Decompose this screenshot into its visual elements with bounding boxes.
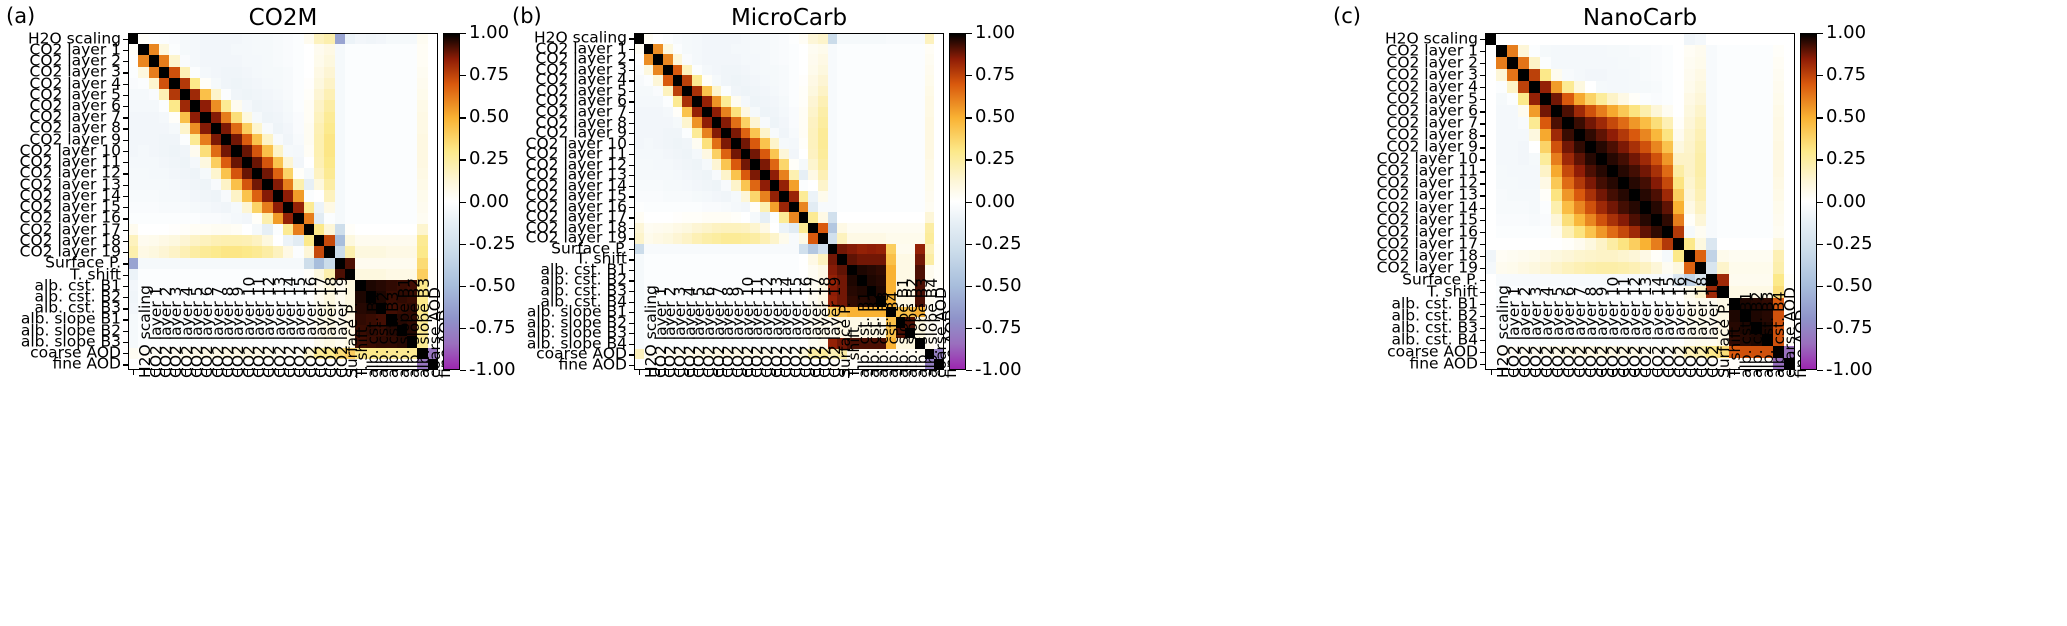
heatmap-cell bbox=[1762, 250, 1773, 262]
heatmap-cell bbox=[1762, 189, 1773, 201]
heatmap-cell bbox=[712, 65, 722, 76]
heatmap-cell bbox=[1562, 189, 1573, 201]
heatmap-cell bbox=[1784, 189, 1795, 201]
y-tick-mark bbox=[123, 263, 128, 264]
heatmap-cell bbox=[366, 235, 376, 246]
heatmap-cell bbox=[366, 67, 376, 78]
heatmap-cell bbox=[190, 100, 200, 111]
heatmap-cell bbox=[417, 202, 427, 213]
heatmap-cell bbox=[1529, 250, 1540, 262]
heatmap-cell bbox=[1706, 45, 1717, 57]
heatmap-cell bbox=[644, 159, 654, 170]
heatmap-cell bbox=[386, 202, 396, 213]
heatmap-cell bbox=[857, 149, 867, 160]
heatmap-cell bbox=[799, 223, 809, 234]
heatmap-cell bbox=[828, 117, 838, 128]
heatmap-cell bbox=[1740, 57, 1751, 69]
heatmap-cell bbox=[221, 202, 231, 213]
heatmap-cell bbox=[407, 89, 417, 100]
heatmap-cell bbox=[1607, 153, 1618, 165]
heatmap-cell bbox=[376, 179, 386, 190]
heatmap-cell bbox=[1695, 57, 1706, 69]
heatmap-cell bbox=[386, 78, 396, 89]
colorbar-tick-mark bbox=[966, 244, 972, 245]
heatmap-cell bbox=[1585, 57, 1596, 69]
heatmap-cell bbox=[138, 258, 148, 269]
heatmap-cell bbox=[1529, 69, 1540, 81]
x-tick-mark bbox=[433, 370, 434, 375]
heatmap-cell bbox=[1596, 201, 1607, 213]
heatmap-cell bbox=[262, 89, 272, 100]
heatmap-cell bbox=[211, 145, 221, 156]
heatmap-cell bbox=[376, 100, 386, 111]
heatmap-cell bbox=[1562, 129, 1573, 141]
heatmap-cell bbox=[808, 96, 818, 107]
heatmap-cell bbox=[634, 33, 644, 44]
heatmap-cell bbox=[169, 134, 179, 145]
heatmap-cell bbox=[1574, 105, 1585, 117]
heatmap-cell bbox=[653, 138, 663, 149]
heatmap-cell bbox=[876, 180, 886, 191]
heatmap-cell bbox=[211, 123, 221, 134]
heatmap-cell bbox=[682, 202, 692, 213]
heatmap-cell bbox=[837, 33, 847, 44]
heatmap-cell bbox=[702, 138, 712, 149]
heatmap-cell bbox=[397, 78, 407, 89]
heatmap-cell bbox=[886, 54, 896, 65]
x-tick-mark bbox=[216, 370, 217, 375]
heatmap-cell bbox=[1618, 129, 1629, 141]
heatmap-cell bbox=[1751, 33, 1762, 45]
heatmap-cell bbox=[1485, 117, 1496, 129]
heatmap-cell bbox=[1740, 177, 1751, 189]
heatmap-cell bbox=[242, 145, 252, 156]
heatmap-cell bbox=[1618, 189, 1629, 201]
heatmap-cell bbox=[653, 107, 663, 118]
heatmap-cell bbox=[324, 44, 334, 55]
heatmap-cell bbox=[1651, 238, 1662, 250]
heatmap-cell bbox=[1518, 201, 1529, 213]
heatmap-cell bbox=[200, 190, 210, 201]
heatmap-cell bbox=[169, 145, 179, 156]
heatmap-cell bbox=[818, 86, 828, 97]
heatmap-cell bbox=[304, 168, 314, 179]
heatmap-cell bbox=[304, 134, 314, 145]
heatmap-cell bbox=[692, 212, 702, 223]
heatmap-cell bbox=[731, 233, 741, 244]
heatmap-cell bbox=[634, 107, 644, 118]
heatmap-cell bbox=[283, 258, 293, 269]
heatmap-cell bbox=[837, 138, 847, 149]
heatmap-cell bbox=[293, 134, 303, 145]
heatmap-cell bbox=[857, 128, 867, 139]
heatmap-cell bbox=[770, 44, 780, 55]
heatmap-cell bbox=[1607, 214, 1618, 226]
heatmap-cell bbox=[1629, 141, 1640, 153]
heatmap-cell bbox=[741, 223, 751, 234]
heatmap-cell bbox=[1596, 189, 1607, 201]
y-tick-mark bbox=[1480, 268, 1485, 269]
heatmap-cell bbox=[417, 55, 427, 66]
heatmap-cell bbox=[1496, 262, 1507, 274]
heatmap-cell bbox=[1618, 262, 1629, 274]
heatmap-cell bbox=[750, 138, 760, 149]
heatmap-cell bbox=[1496, 201, 1507, 213]
heatmap-cell bbox=[128, 202, 138, 213]
heatmap-cell bbox=[644, 117, 654, 128]
y-tick-mark bbox=[1480, 75, 1485, 76]
heatmap-cell bbox=[169, 78, 179, 89]
heatmap-cell bbox=[663, 159, 673, 170]
heatmap-cell bbox=[1518, 81, 1529, 93]
heatmap-cell bbox=[721, 180, 731, 191]
panel-tag-c: (c) bbox=[1333, 6, 1361, 27]
heatmap-cell bbox=[634, 75, 644, 86]
heatmap-cell bbox=[741, 128, 751, 139]
heatmap-cell bbox=[712, 202, 722, 213]
heatmap-cell bbox=[1607, 226, 1618, 238]
heatmap-cell bbox=[1662, 214, 1673, 226]
x-tick-mark bbox=[765, 370, 766, 375]
heatmap-cell bbox=[417, 123, 427, 134]
y-tick-mark bbox=[123, 84, 128, 85]
heatmap-cell bbox=[867, 149, 877, 160]
heatmap-cell bbox=[653, 202, 663, 213]
heatmap-cell bbox=[1496, 57, 1507, 69]
heatmap-cell bbox=[789, 170, 799, 181]
heatmap-cell bbox=[750, 149, 760, 160]
heatmap-cell bbox=[242, 246, 252, 257]
heatmap-cell bbox=[1684, 214, 1695, 226]
heatmap-cell bbox=[905, 75, 915, 86]
heatmap-cell bbox=[1751, 129, 1762, 141]
heatmap-cell bbox=[760, 128, 770, 139]
heatmap-cell bbox=[915, 159, 925, 170]
heatmap-cell bbox=[808, 44, 818, 55]
heatmap-cell bbox=[159, 246, 169, 257]
heatmap-cell bbox=[867, 65, 877, 76]
heatmap-cell bbox=[1540, 105, 1551, 117]
x-tick-mark bbox=[852, 370, 853, 375]
heatmap-cell bbox=[1673, 226, 1684, 238]
heatmap-cell bbox=[355, 157, 365, 168]
heatmap-cell bbox=[1507, 214, 1518, 226]
heatmap-cell bbox=[355, 179, 365, 190]
heatmap-cell bbox=[200, 168, 210, 179]
heatmap-cell bbox=[760, 96, 770, 107]
x-tick-mark bbox=[1502, 370, 1503, 375]
heatmap-cell bbox=[283, 224, 293, 235]
x-tick-mark bbox=[1568, 370, 1569, 375]
heatmap-cell bbox=[760, 75, 770, 86]
heatmap-cell bbox=[1540, 165, 1551, 177]
heatmap-cell bbox=[1629, 214, 1640, 226]
heatmap-cell bbox=[905, 117, 915, 128]
colorbar-b bbox=[949, 33, 966, 370]
heatmap-cell bbox=[242, 235, 252, 246]
x-tick-mark bbox=[813, 370, 814, 375]
heatmap-cell bbox=[760, 54, 770, 65]
heatmap-cell bbox=[712, 159, 722, 170]
heatmap-cell bbox=[634, 265, 644, 276]
heatmap-cell bbox=[1607, 262, 1618, 274]
heatmap-cell bbox=[128, 157, 138, 168]
colorbar-tick-mark bbox=[966, 33, 972, 34]
heatmap-cell bbox=[1662, 57, 1673, 69]
heatmap-cell bbox=[808, 138, 818, 149]
heatmap-cell bbox=[925, 65, 935, 76]
colorbar-tick-label: 0.00 bbox=[469, 193, 509, 211]
heatmap-cell bbox=[653, 128, 663, 139]
heatmap-cell bbox=[138, 269, 148, 280]
x-tick-mark bbox=[144, 370, 145, 375]
heatmap-cell bbox=[1651, 165, 1662, 177]
heatmap-cell bbox=[1773, 262, 1784, 274]
heatmap-cell bbox=[1574, 33, 1585, 45]
heatmap-cell bbox=[634, 149, 644, 160]
heatmap-cell bbox=[837, 117, 847, 128]
heatmap-cell bbox=[1618, 238, 1629, 250]
heatmap-cell bbox=[1507, 250, 1518, 262]
heatmap-cell bbox=[355, 258, 365, 269]
heatmap-cell bbox=[1551, 141, 1562, 153]
heatmap-cell bbox=[1740, 165, 1751, 177]
heatmap-cell bbox=[1529, 214, 1540, 226]
heatmap-cell bbox=[314, 112, 324, 123]
x-tick-mark bbox=[1557, 370, 1558, 375]
heatmap-cell bbox=[741, 244, 751, 255]
heatmap-cell bbox=[200, 224, 210, 235]
heatmap-cell bbox=[1717, 201, 1728, 213]
y-tick-mark bbox=[123, 196, 128, 197]
heatmap-cell bbox=[925, 265, 935, 276]
heatmap-cell bbox=[644, 33, 654, 44]
heatmap-cell bbox=[915, 202, 925, 213]
heatmap-cell bbox=[847, 159, 857, 170]
heatmap-cell bbox=[200, 157, 210, 168]
heatmap-cell bbox=[818, 159, 828, 170]
heatmap-cell bbox=[663, 75, 673, 86]
heatmap-cell bbox=[867, 180, 877, 191]
heatmap-cell bbox=[673, 159, 683, 170]
heatmap-cell bbox=[799, 180, 809, 191]
heatmap-cell bbox=[376, 134, 386, 145]
heatmap-cell bbox=[702, 96, 712, 107]
y-tick-mark bbox=[629, 175, 634, 176]
heatmap-cell bbox=[663, 170, 673, 181]
heatmap-cell bbox=[915, 128, 925, 139]
heatmap-cell bbox=[221, 67, 231, 78]
heatmap-cell bbox=[1773, 214, 1784, 226]
heatmap-cell bbox=[779, 128, 789, 139]
heatmap-cell bbox=[335, 89, 345, 100]
heatmap-cell bbox=[1496, 226, 1507, 238]
heatmap-cell bbox=[1640, 117, 1651, 129]
heatmap-cell bbox=[304, 202, 314, 213]
heatmap-cell bbox=[702, 128, 712, 139]
colorbar-tick-label: 0.50 bbox=[1826, 108, 1866, 126]
heatmap-cell bbox=[386, 89, 396, 100]
x-tick-mark bbox=[833, 370, 834, 375]
heatmap-cell bbox=[789, 128, 799, 139]
heatmap-cell bbox=[731, 170, 741, 181]
heatmap-cell bbox=[818, 33, 828, 44]
heatmap-cell bbox=[721, 170, 731, 181]
heatmap-cell bbox=[876, 170, 886, 181]
heatmap-cell bbox=[886, 44, 896, 55]
heatmap-cell bbox=[407, 179, 417, 190]
heatmap-cell bbox=[1485, 69, 1496, 81]
heatmap-cell bbox=[857, 244, 867, 255]
heatmap-cell bbox=[750, 223, 760, 234]
heatmap-cell bbox=[386, 44, 396, 55]
heatmap-cell bbox=[283, 213, 293, 224]
heatmap-cell bbox=[828, 244, 838, 255]
heatmap-cell bbox=[653, 149, 663, 160]
heatmap-cell bbox=[345, 33, 355, 44]
heatmap-cell bbox=[190, 134, 200, 145]
heatmap-cell bbox=[159, 202, 169, 213]
heatmap-cell bbox=[293, 112, 303, 123]
heatmap-cell bbox=[1729, 93, 1740, 105]
heatmap-cell bbox=[138, 246, 148, 257]
heatmap-cell bbox=[169, 235, 179, 246]
heatmap-cell bbox=[634, 191, 644, 202]
y-tick-label: fine AOD bbox=[558, 357, 627, 373]
heatmap-cell bbox=[808, 159, 818, 170]
heatmap-cell bbox=[770, 54, 780, 65]
heatmap-cell bbox=[293, 224, 303, 235]
heatmap-cell bbox=[1629, 262, 1640, 274]
heatmap-cell bbox=[428, 134, 438, 145]
heatmap-cell bbox=[1762, 274, 1773, 286]
x-tick-mark bbox=[881, 370, 882, 375]
heatmap-cell bbox=[169, 202, 179, 213]
heatmap-cell bbox=[190, 89, 200, 100]
heatmap-cell bbox=[1496, 141, 1507, 153]
heatmap-cell bbox=[376, 145, 386, 156]
heatmap-cell bbox=[1695, 226, 1706, 238]
heatmap-cell bbox=[345, 168, 355, 179]
heatmap-cell bbox=[886, 223, 896, 234]
x-tick-mark bbox=[371, 370, 372, 375]
heatmap-cell bbox=[428, 179, 438, 190]
x-tick-mark bbox=[381, 370, 382, 375]
heatmap-cell bbox=[847, 180, 857, 191]
heatmap-cell bbox=[1640, 238, 1651, 250]
x-tick-mark bbox=[726, 370, 727, 375]
colorbar-tick-label: 1.00 bbox=[469, 24, 509, 42]
heatmap-cell bbox=[1729, 262, 1740, 274]
heatmap-cell bbox=[789, 33, 799, 44]
x-tick-mark bbox=[1723, 370, 1724, 375]
heatmap-cell bbox=[760, 159, 770, 170]
heatmap-cell bbox=[1684, 105, 1695, 117]
heatmap-cell bbox=[828, 65, 838, 76]
heatmap-cell bbox=[221, 89, 231, 100]
heatmap-cell bbox=[663, 212, 673, 223]
heatmap-cell bbox=[180, 179, 190, 190]
heatmap-cell bbox=[324, 89, 334, 100]
heatmap-cell bbox=[653, 265, 663, 276]
heatmap-cell bbox=[789, 212, 799, 223]
heatmap-cell bbox=[799, 96, 809, 107]
heatmap-cell bbox=[692, 191, 702, 202]
heatmap-cell bbox=[934, 54, 944, 65]
heatmap-cell bbox=[702, 75, 712, 86]
heatmap-cell bbox=[314, 145, 324, 156]
heatmap-cell bbox=[417, 246, 427, 257]
heatmap-cell bbox=[1651, 129, 1662, 141]
heatmap-cell bbox=[1740, 81, 1751, 93]
heatmap-cell bbox=[837, 265, 847, 276]
heatmap-cell bbox=[1717, 69, 1728, 81]
heatmap-cell bbox=[1551, 201, 1562, 213]
heatmap-cell bbox=[1640, 93, 1651, 105]
heatmap-cell bbox=[149, 134, 159, 145]
x-tick-mark bbox=[340, 370, 341, 375]
heatmap-cell bbox=[750, 159, 760, 170]
heatmap-cell bbox=[934, 138, 944, 149]
heatmap-cell bbox=[159, 33, 169, 44]
heatmap-cell bbox=[1751, 45, 1762, 57]
heatmap-cell bbox=[682, 86, 692, 97]
heatmap-cell bbox=[896, 107, 906, 118]
y-tick-mark bbox=[629, 196, 634, 197]
heatmap-cell bbox=[1740, 117, 1751, 129]
heatmap-cell bbox=[828, 138, 838, 149]
heatmap-cell bbox=[138, 55, 148, 66]
y-tick-mark bbox=[629, 238, 634, 239]
heatmap-cell bbox=[159, 123, 169, 134]
heatmap-cell bbox=[1751, 177, 1762, 189]
y-tick-mark bbox=[629, 70, 634, 71]
heatmap-cell bbox=[190, 67, 200, 78]
heatmap-cell bbox=[905, 223, 915, 234]
heatmap-cell bbox=[750, 54, 760, 65]
heatmap-cell bbox=[1773, 105, 1784, 117]
heatmap-cell bbox=[1640, 250, 1651, 262]
heatmap-cell bbox=[837, 54, 847, 65]
heatmap-cell bbox=[1551, 165, 1562, 177]
heatmap-cell bbox=[345, 112, 355, 123]
heatmap-cell bbox=[886, 233, 896, 244]
heatmap-cell bbox=[1585, 45, 1596, 57]
heatmap-cell bbox=[886, 75, 896, 86]
y-tick-label: fine AOD bbox=[52, 357, 121, 373]
heatmap-cell bbox=[1585, 141, 1596, 153]
heatmap-cell bbox=[770, 96, 780, 107]
heatmap-cell bbox=[905, 86, 915, 97]
heatmap-cell bbox=[760, 86, 770, 97]
heatmap-cell bbox=[355, 224, 365, 235]
heatmap-cell bbox=[818, 265, 828, 276]
heatmap-cell bbox=[149, 67, 159, 78]
heatmap-cell bbox=[324, 224, 334, 235]
heatmap-cell bbox=[1485, 201, 1496, 213]
heatmap-cell bbox=[1773, 129, 1784, 141]
heatmap-cell bbox=[750, 65, 760, 76]
y-tick-mark bbox=[629, 80, 634, 81]
x-tick-mark bbox=[412, 370, 413, 375]
heatmap-cell bbox=[366, 157, 376, 168]
heatmap-cell bbox=[366, 134, 376, 145]
heatmap-cell bbox=[857, 44, 867, 55]
heatmap-cell bbox=[283, 235, 293, 246]
heatmap-cell bbox=[1684, 129, 1695, 141]
heatmap-cell bbox=[355, 269, 365, 280]
heatmap-cell bbox=[750, 128, 760, 139]
